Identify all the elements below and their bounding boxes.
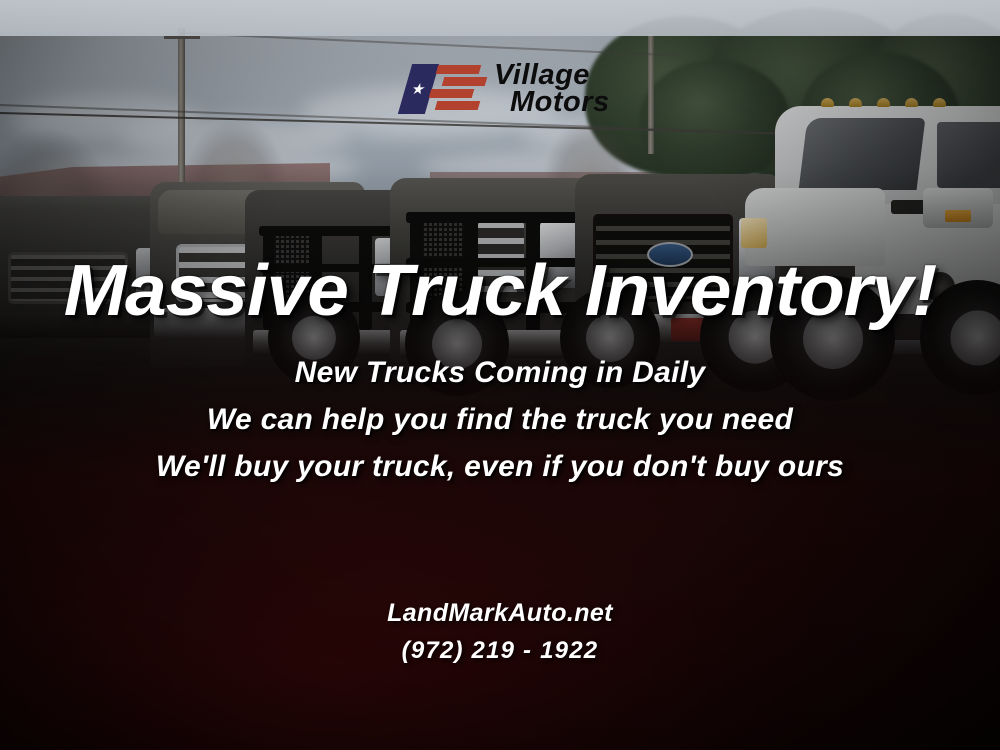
flag-stripe xyxy=(435,101,481,110)
subline-2: We can help you find the truck you need xyxy=(0,403,1000,437)
dealership-promo-banner: ★ Village Motors Massive Truck Inventory… xyxy=(0,0,1000,750)
texas-flag-stripes-icon: ★ xyxy=(405,64,485,114)
phone-number[interactable]: (972) 219 - 1922 xyxy=(0,637,1000,665)
flag-stripe xyxy=(436,65,482,74)
star-icon: ★ xyxy=(410,81,428,96)
village-motors-logo[interactable]: ★ Village Motors xyxy=(405,62,610,115)
subline-3: We'll buy your truck, even if you don't … xyxy=(0,450,1000,484)
logo-name-line1: Village xyxy=(494,62,610,89)
logo-name-line2: Motors xyxy=(510,89,610,116)
flag-stripe xyxy=(429,89,475,98)
website-url[interactable]: LandMarkAuto.net xyxy=(0,599,1000,628)
subline-1: New Trucks Coming in Daily xyxy=(0,356,1000,390)
headline: Massive Truck Inventory! xyxy=(0,250,1000,332)
top-light-band xyxy=(0,0,1000,36)
flag-stripe xyxy=(442,77,488,86)
logo-wordmark: Village Motors xyxy=(494,62,610,115)
